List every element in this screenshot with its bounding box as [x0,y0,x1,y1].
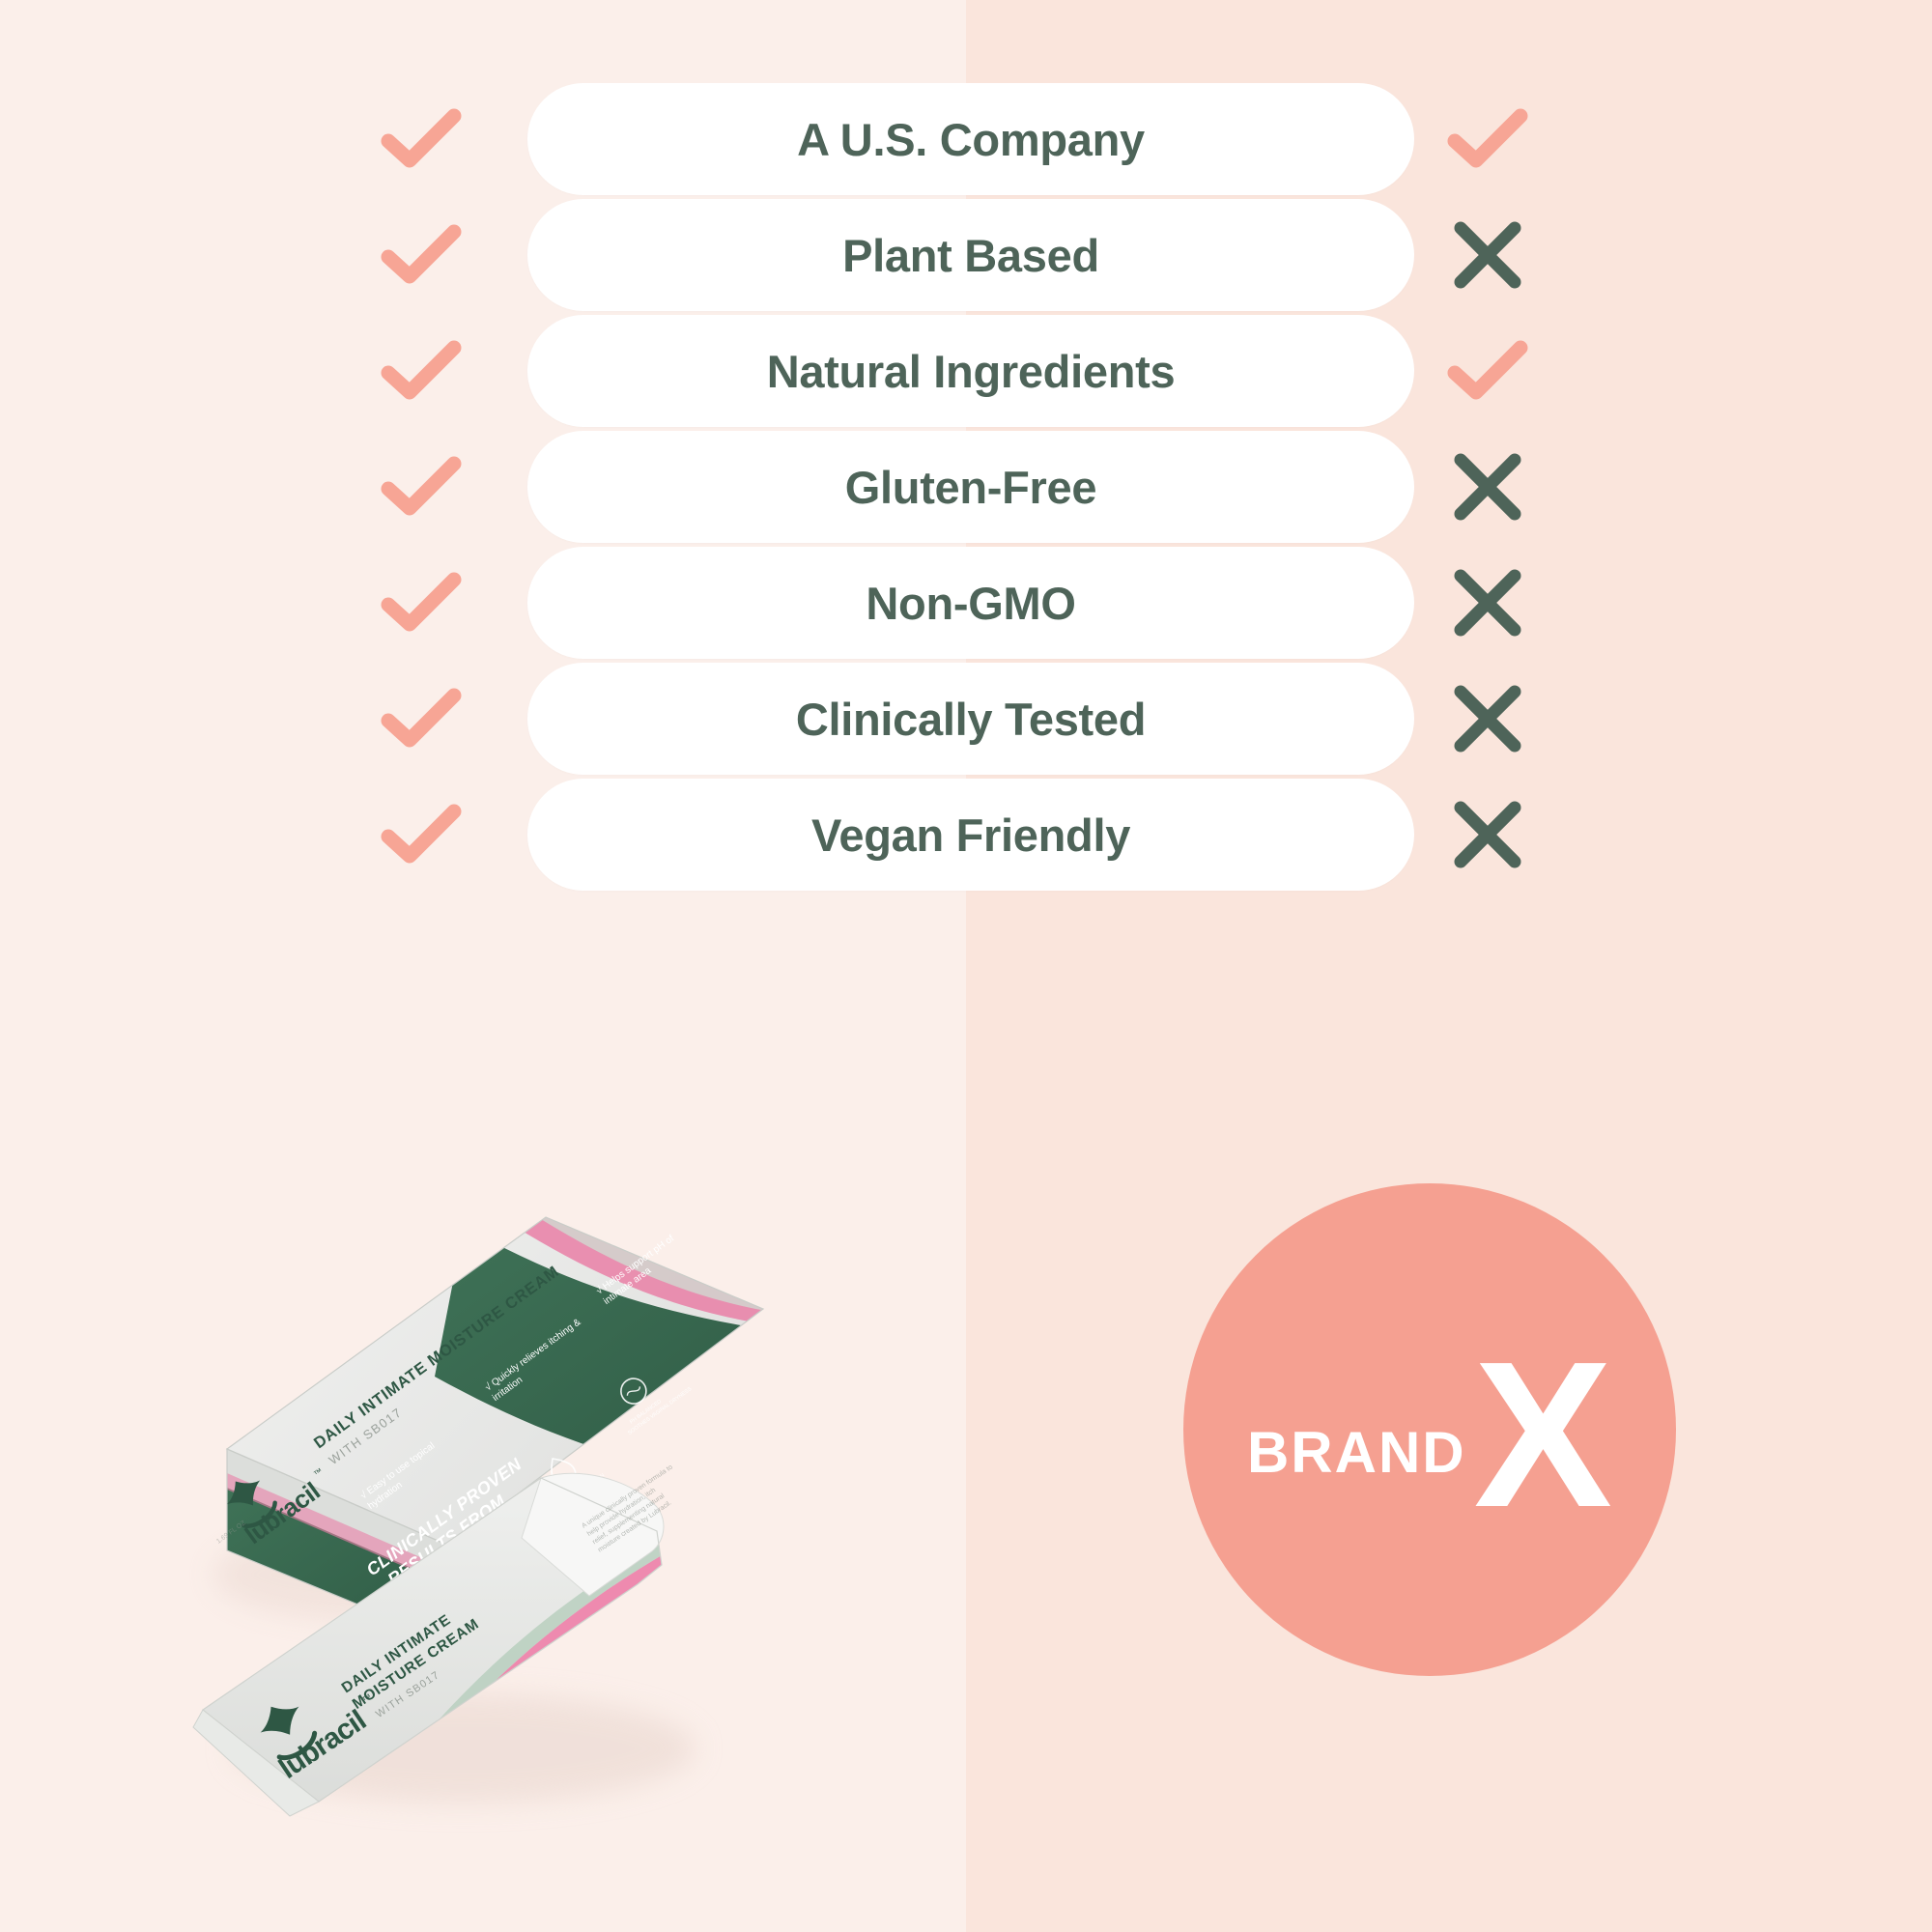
comparison-row: Plant Based [0,197,1932,313]
feature-label: Non-GMO [866,577,1075,630]
feature-pill: Natural Ingredients [527,315,1414,427]
brand-x-letter-label: X [1474,1330,1612,1538]
feature-pill: A U.S. Company [527,83,1414,195]
brandx-mark-check [1430,81,1546,197]
brand-x-inner: BRAND X [1247,1330,1612,1538]
lubracil-mark-check [363,429,479,545]
lubracil-mark-check [363,81,479,197]
comparison-table: A U.S. Company Plant Based Natural Ingre… [0,0,1932,1140]
check-icon [375,325,468,417]
feature-label: A U.S. Company [797,113,1145,166]
brand-x-badge: BRAND X [1183,1183,1676,1676]
check-icon [375,556,468,649]
brandx-mark-cross [1430,429,1546,545]
brandx-mark-cross [1430,661,1546,777]
check-icon [1441,93,1534,185]
check-icon [375,788,468,881]
feature-label: Plant Based [842,229,1099,282]
feature-label: Natural Ingredients [767,345,1176,398]
feature-pill: Non-GMO [527,547,1414,659]
feature-pill: Clinically Tested [527,663,1414,775]
comparison-row: A U.S. Company [0,81,1932,197]
comparison-row: Natural Ingredients [0,313,1932,429]
brandx-mark-cross [1430,545,1546,661]
close-icon [1447,214,1528,296]
brandx-mark-cross [1430,777,1546,893]
brandx-mark-cross [1430,197,1546,313]
close-icon [1447,794,1528,875]
feature-label: Clinically Tested [796,693,1146,746]
check-icon [375,440,468,533]
feature-pill: Gluten-Free [527,431,1414,543]
brand-x-word-label: BRAND [1247,1424,1466,1482]
lubracil-mark-check [363,545,479,661]
feature-label: Vegan Friendly [811,809,1130,862]
lubracil-mark-check [363,197,479,313]
check-icon [375,209,468,301]
close-icon [1447,678,1528,759]
feature-label: Gluten-Free [845,461,1096,514]
comparison-row: Vegan Friendly [0,777,1932,893]
close-icon [1447,446,1528,527]
feature-pill: Vegan Friendly [527,779,1414,891]
comparison-row: Non-GMO [0,545,1932,661]
check-icon [375,93,468,185]
lubracil-mark-check [363,777,479,893]
check-icon [375,672,468,765]
lubracil-mark-check [363,313,479,429]
product-photo-lubracil: DAILY INTIMATE MOISTURE CREAM WITH SB017… [174,1159,831,1855]
close-icon [1447,562,1528,643]
brandx-mark-check [1430,313,1546,429]
comparison-row: Gluten-Free [0,429,1932,545]
comparison-row: Clinically Tested [0,661,1932,777]
feature-pill: Plant Based [527,199,1414,311]
lubracil-mark-check [363,661,479,777]
check-icon [1441,325,1534,417]
